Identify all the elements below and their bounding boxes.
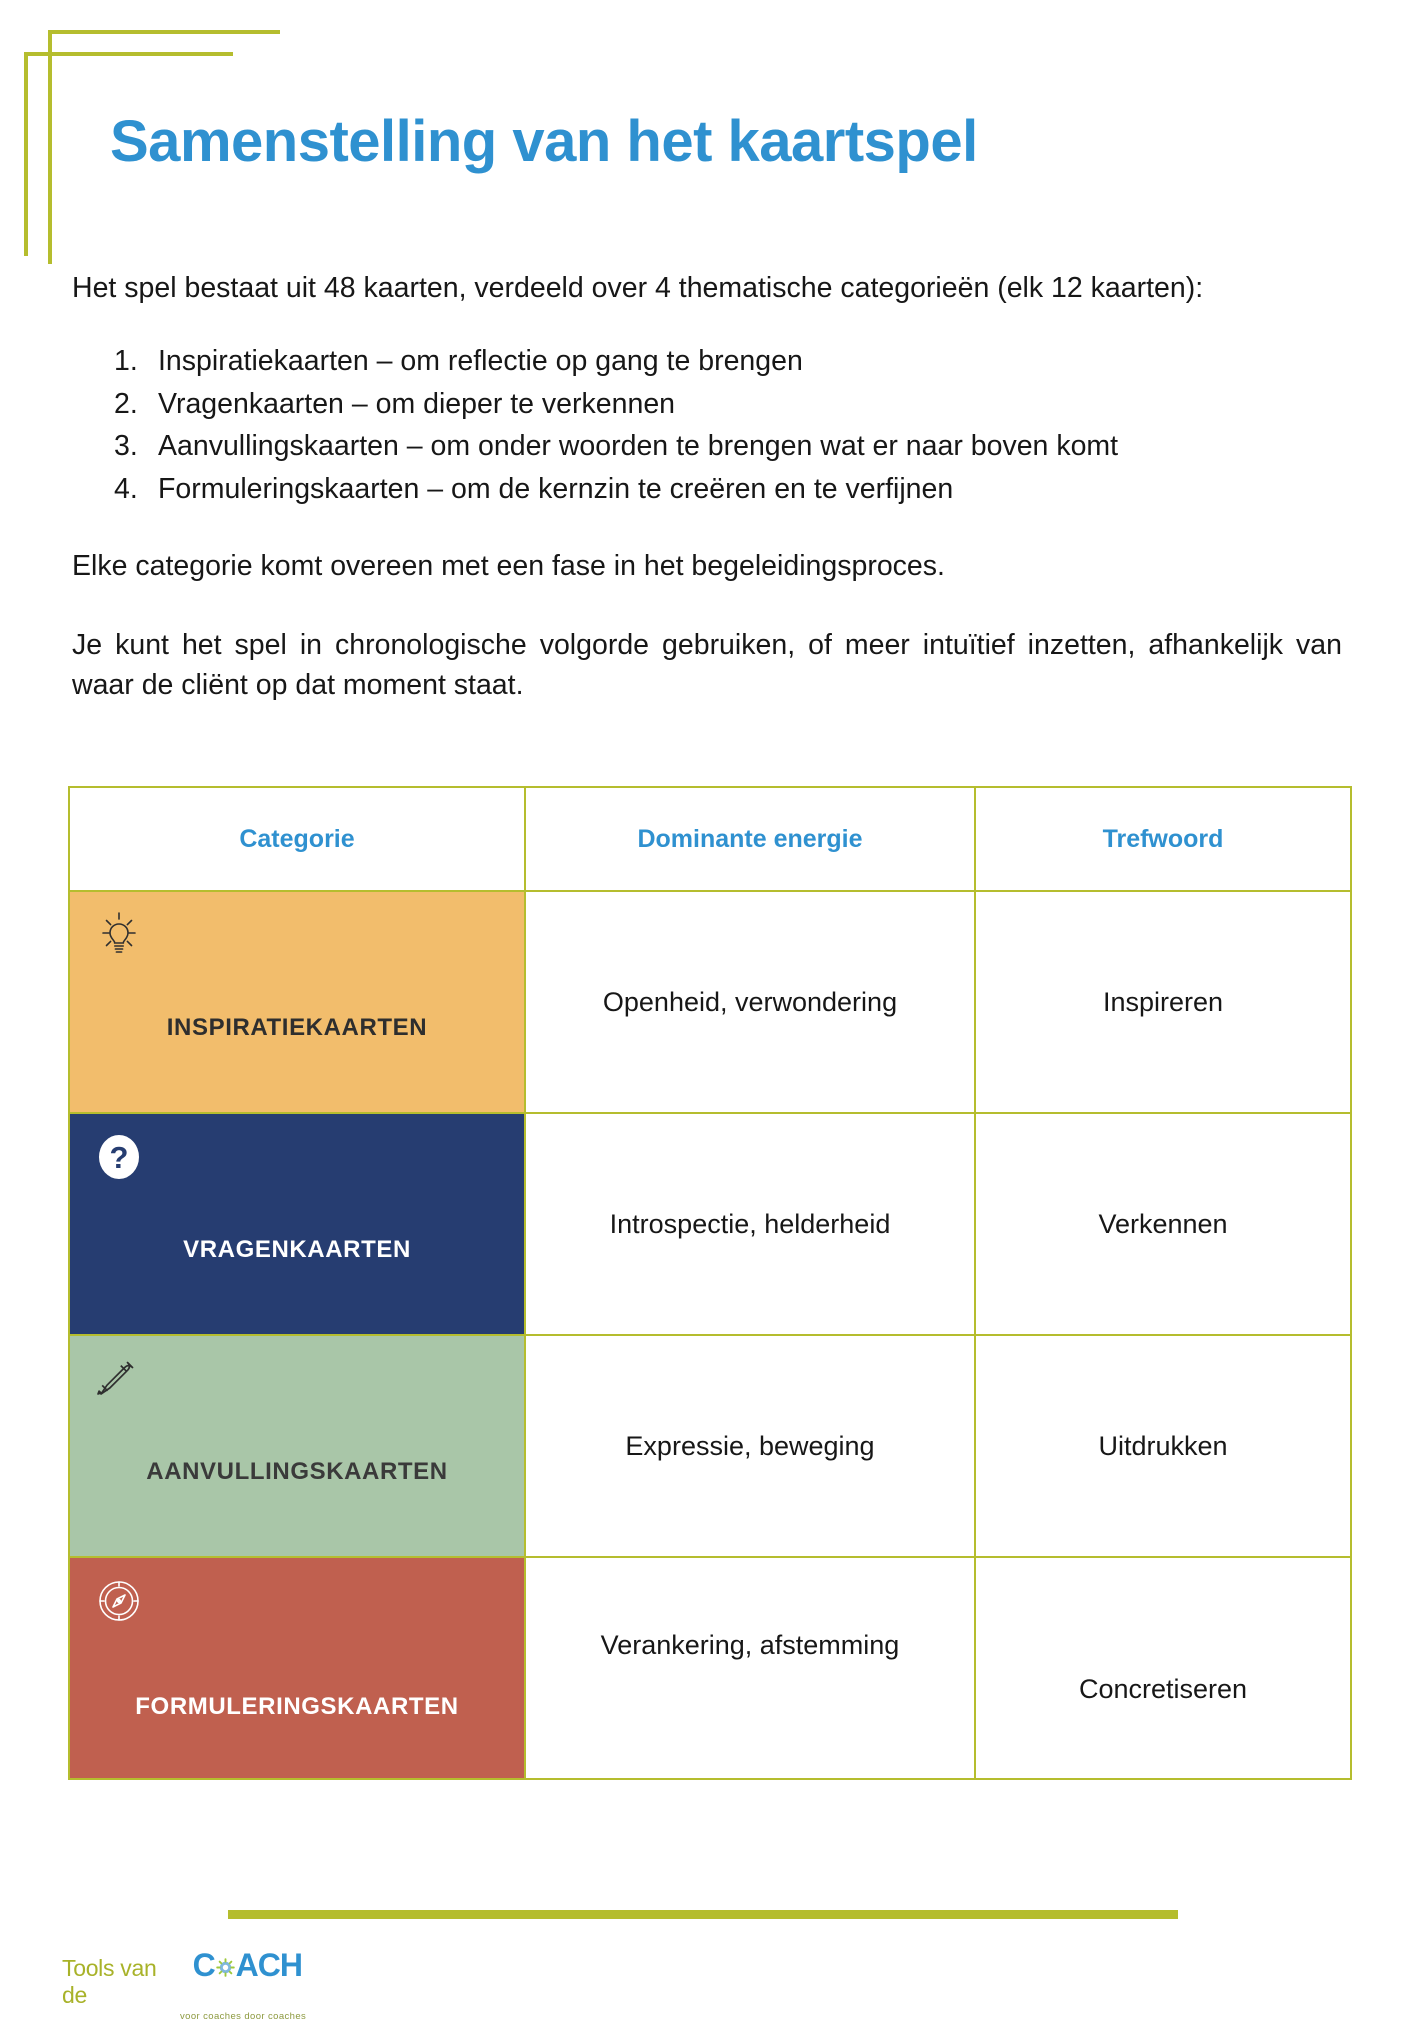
table-row: INSPIRATIEKAARTEN Openheid, verwondering… — [69, 891, 1351, 1113]
logo-tagline: voor coaches door coaches — [180, 2011, 302, 2022]
logo-letters-ach: ACH — [236, 1947, 302, 1984]
category-label: INSPIRATIEKAARTEN — [70, 962, 524, 1042]
gear-icon — [216, 1956, 235, 1975]
energy-cell: Verankering, afstemming — [525, 1557, 975, 1779]
question-mark-circle-icon: ? — [92, 1130, 146, 1184]
keyword-cell: Uitdrukken — [975, 1335, 1351, 1557]
pencil-icon — [92, 1352, 146, 1406]
table-row: AANVULLINGSKAARTEN Expressie, beweging U… — [69, 1335, 1351, 1557]
document-page: Samenstelling van het kaartspel Het spel… — [0, 0, 1414, 2000]
logo-letter-c: C — [193, 1947, 215, 1984]
column-header-trefwoord: Trefwoord — [975, 787, 1351, 891]
category-cell-inspiratiekaarten: INSPIRATIEKAARTEN — [69, 891, 525, 1113]
category-label: VRAGENKAARTEN — [70, 1184, 524, 1264]
category-label: AANVULLINGSKAARTEN — [70, 1406, 524, 1486]
table-row: FORMULERINGSKAARTEN Verankering, afstemm… — [69, 1557, 1351, 1779]
logo-prefix-text: Tools van de — [62, 1955, 186, 2009]
category-cell-aanvullingskaarten: AANVULLINGSKAARTEN — [69, 1335, 525, 1557]
category-table: Categorie Dominante energie Trefwoord — [68, 786, 1352, 1780]
list-item: Vragenkaarten – om dieper te verkennen — [158, 383, 1342, 425]
keyword-cell: Verkennen — [975, 1113, 1351, 1335]
compass-icon — [92, 1574, 146, 1628]
table-header-row: Categorie Dominante energie Trefwoord — [69, 787, 1351, 891]
document-body: Het spel bestaat uit 48 kaarten, verdeel… — [72, 268, 1342, 706]
lightbulb-icon — [92, 908, 146, 962]
page-title: Samenstelling van het kaartspel — [110, 108, 978, 175]
footer-divider — [228, 1910, 1178, 1919]
note-paragraph-2: Je kunt het spel in chronologische volgo… — [72, 625, 1342, 706]
list-item: Inspiratiekaarten – om reflectie op gang… — [158, 340, 1342, 382]
note-paragraph-1: Elke categorie komt overeen met een fase… — [72, 546, 1342, 586]
list-item: Aanvullingskaarten – om onder woorden te… — [158, 425, 1342, 467]
column-header-categorie: Categorie — [69, 787, 525, 891]
energy-cell: Introspectie, helderheid — [525, 1113, 975, 1335]
column-header-dominante-energie: Dominante energie — [525, 787, 975, 891]
card-category-list: Inspiratiekaarten – om reflectie op gang… — [72, 340, 1342, 510]
intro-paragraph: Het spel bestaat uit 48 kaarten, verdeel… — [72, 268, 1342, 308]
category-label: FORMULERINGSKAARTEN — [70, 1615, 524, 1721]
keyword-cell: Inspireren — [975, 891, 1351, 1113]
svg-text:?: ? — [110, 1140, 129, 1175]
category-cell-vragenkaarten: ? VRAGENKAARTEN — [69, 1113, 525, 1335]
energy-cell: Expressie, beweging — [525, 1335, 975, 1557]
category-cell-formuleringskaarten: FORMULERINGSKAARTEN — [69, 1557, 525, 1779]
table-row: ? VRAGENKAARTEN Introspectie, helderheid… — [69, 1113, 1351, 1335]
keyword-cell: Concretiseren — [975, 1557, 1351, 1779]
brand-logo: Tools van de C — [62, 1947, 302, 2022]
list-item: Formuleringskaarten – om de kernzin te c… — [158, 468, 1342, 510]
energy-cell: Openheid, verwondering — [525, 891, 975, 1113]
